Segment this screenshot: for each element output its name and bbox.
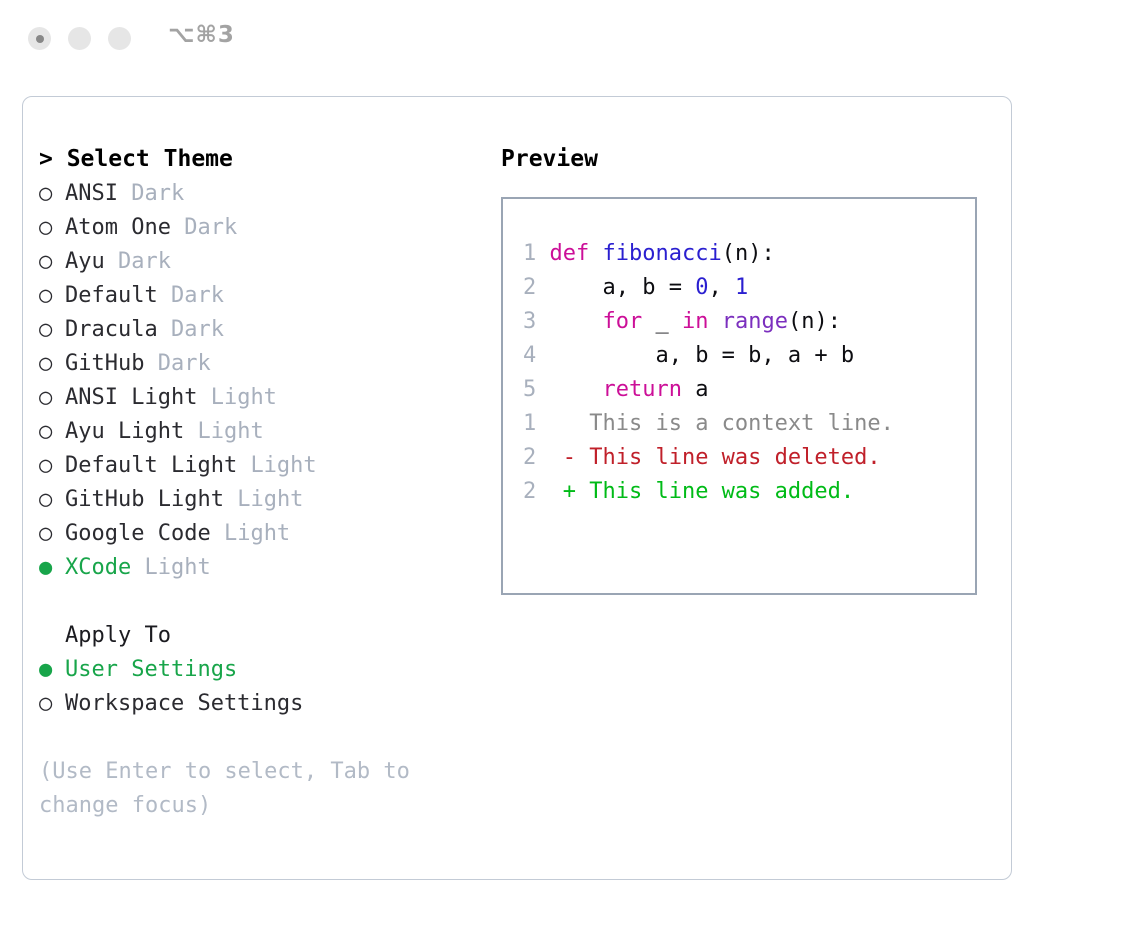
theme-list-item[interactable]: ○ANSI Light Light — [39, 381, 489, 415]
theme-list-item[interactable]: ○Default Dark — [39, 279, 489, 313]
radio-unselected-icon: ○ — [39, 415, 65, 449]
code-preview: 1 def fibonacci(n):2 a, b = 0, 13 for _ … — [523, 237, 963, 407]
apply-to-option[interactable]: ●User Settings — [39, 653, 489, 687]
spacer — [224, 487, 237, 512]
main-content-panel: > Select Theme ○ANSI Dark○Atom One Dark○… — [22, 96, 1012, 880]
spacer — [144, 351, 157, 376]
spacer — [536, 275, 549, 300]
apply-to-list: ●User Settings○Workspace Settings — [39, 653, 489, 721]
theme-name-label: XCode — [65, 555, 131, 580]
spacer — [536, 309, 549, 334]
theme-list-item[interactable]: ○GitHub Dark — [39, 347, 489, 381]
code-token: return — [602, 377, 681, 402]
code-line-number: 5 — [523, 377, 536, 402]
radio-unselected-icon: ○ — [39, 687, 65, 721]
code-token — [708, 309, 721, 334]
code-token: fibonacci — [603, 241, 722, 266]
code-token: _ — [642, 309, 682, 334]
code-token: a, b = — [550, 275, 696, 300]
code-line: 1 def fibonacci(n): — [523, 237, 963, 271]
theme-selector-column: > Select Theme ○ANSI Dark○Atom One Dark○… — [39, 141, 489, 823]
theme-variant-tag: Light — [197, 419, 263, 444]
radio-unselected-icon: ○ — [39, 483, 65, 517]
theme-name-label: Atom One — [65, 215, 171, 240]
diff-line-number: 1 — [523, 411, 536, 436]
spacer — [184, 419, 197, 444]
theme-variant-tag: Light — [211, 385, 277, 410]
theme-name-label: Default Light — [65, 453, 237, 478]
code-line: 2 a, b = 0, 1 — [523, 271, 963, 305]
diff-line: 2 - This line was deleted. — [523, 441, 963, 475]
theme-name-label: Default — [65, 283, 158, 308]
radio-unselected-icon: ○ — [39, 381, 65, 415]
diff-line: 1 This is a context line. — [523, 407, 963, 441]
window-titlebar: ⌥⌘3 — [0, 0, 1140, 78]
theme-variant-tag: Dark — [131, 181, 184, 206]
theme-list-item[interactable]: ○Ayu Dark — [39, 245, 489, 279]
theme-list-item[interactable]: ○Dracula Dark — [39, 313, 489, 347]
theme-variant-tag: Light — [250, 453, 316, 478]
theme-list-item[interactable]: ○Ayu Light Light — [39, 415, 489, 449]
spacer — [158, 283, 171, 308]
theme-variant-tag: Dark — [184, 215, 237, 240]
code-line-number: 2 — [523, 275, 536, 300]
theme-list-item[interactable]: ○ANSI Dark — [39, 177, 489, 211]
window-title: ⌥⌘3 — [168, 22, 235, 48]
diff-marker: - — [536, 445, 589, 470]
radio-unselected-icon: ○ — [39, 279, 65, 313]
radio-selected-icon: ● — [39, 551, 65, 585]
theme-name-label: ANSI — [65, 181, 118, 206]
preview-heading: Preview — [501, 141, 991, 177]
radio-unselected-icon: ○ — [39, 517, 65, 551]
spacer — [536, 377, 549, 402]
theme-name-label: Ayu Light — [65, 419, 184, 444]
radio-unselected-icon: ○ — [39, 347, 65, 381]
theme-list-item[interactable]: ○Default Light Light — [39, 449, 489, 483]
spacer — [105, 249, 118, 274]
spacer — [211, 521, 224, 546]
theme-variant-tag: Light — [144, 555, 210, 580]
diff-marker: + — [536, 479, 589, 504]
code-token — [550, 309, 603, 334]
diff-line-text: This is a context line. — [589, 411, 894, 436]
spacer — [171, 215, 184, 240]
radio-selected-icon: ● — [39, 653, 65, 687]
apply-to-option[interactable]: ○Workspace Settings — [39, 687, 489, 721]
theme-list-item[interactable]: ○Google Code Light — [39, 517, 489, 551]
spacer — [158, 317, 171, 342]
spacer — [536, 343, 549, 368]
apply-to-option-label: User Settings — [65, 657, 237, 682]
app-window: ⌥⌘3 > Select Theme ○ANSI Dark○Atom One D… — [0, 0, 1140, 934]
spacer — [536, 241, 549, 266]
radio-unselected-icon: ○ — [39, 313, 65, 347]
code-token: range — [722, 309, 788, 334]
diff-line-text: This line was added. — [589, 479, 854, 504]
code-token: a — [682, 377, 709, 402]
theme-name-label: Ayu — [65, 249, 105, 274]
radio-unselected-icon: ○ — [39, 245, 65, 279]
code-token — [589, 241, 602, 266]
radio-unselected-icon: ○ — [39, 449, 65, 483]
code-line-number: 3 — [523, 309, 536, 334]
radio-unselected-icon: ○ — [39, 211, 65, 245]
theme-variant-tag: Dark — [118, 249, 171, 274]
diff-line-text: This line was deleted. — [589, 445, 880, 470]
code-line-number: 4 — [523, 343, 536, 368]
theme-variant-tag: Light — [237, 487, 303, 512]
theme-variant-tag: Dark — [158, 351, 211, 376]
theme-variant-tag: Dark — [171, 283, 224, 308]
diff-marker — [536, 411, 589, 436]
code-line: 5 return a — [523, 373, 963, 407]
code-line: 4 a, b = b, a + b — [523, 339, 963, 373]
apply-to-heading: Apply To — [39, 619, 489, 653]
traffic-light-active-dot — [36, 35, 44, 43]
theme-list-item[interactable]: ○Atom One Dark — [39, 211, 489, 245]
theme-name-label: GitHub — [65, 351, 144, 376]
radio-unselected-icon: ○ — [39, 177, 65, 211]
code-token: def — [550, 241, 590, 266]
code-token: , — [708, 275, 735, 300]
theme-name-label: ANSI Light — [65, 385, 197, 410]
theme-variant-tag: Dark — [171, 317, 224, 342]
theme-list-item[interactable]: ●XCode Light — [39, 551, 489, 585]
spacer — [131, 555, 144, 580]
code-token: 1 — [735, 275, 748, 300]
spacer — [197, 385, 210, 410]
code-token: for — [602, 309, 642, 334]
apply-to-section: Apply To ●User Settings○Workspace Settin… — [39, 619, 489, 721]
theme-name-label: Google Code — [65, 521, 211, 546]
code-token: 0 — [695, 275, 708, 300]
diff-preview: 1 This is a context line.2 - This line w… — [523, 407, 963, 509]
code-token: (n): — [722, 241, 775, 266]
apply-to-option-label: Workspace Settings — [65, 691, 303, 716]
theme-variant-tag: Light — [224, 521, 290, 546]
code-token: (n): — [788, 309, 841, 334]
preview-box: 1 def fibonacci(n):2 a, b = 0, 13 for _ … — [501, 197, 977, 595]
code-token: a, b = b, a + b — [550, 343, 855, 368]
keyboard-help-text: (Use Enter to select, Tab to change focu… — [39, 755, 449, 823]
traffic-light-maximize[interactable] — [108, 27, 131, 50]
traffic-light-close[interactable] — [28, 27, 51, 50]
traffic-light-minimize[interactable] — [68, 27, 91, 50]
code-token — [550, 377, 603, 402]
diff-line-number: 2 — [523, 445, 536, 470]
theme-name-label: Dracula — [65, 317, 158, 342]
code-token: in — [682, 309, 709, 334]
theme-list-item[interactable]: ○GitHub Light Light — [39, 483, 489, 517]
theme-name-label: GitHub Light — [65, 487, 224, 512]
preview-column: Preview 1 def fibonacci(n):2 a, b = 0, 1… — [501, 141, 991, 595]
theme-list-heading: > Select Theme — [39, 141, 489, 177]
diff-line: 2 + This line was added. — [523, 475, 963, 509]
code-line: 3 for _ in range(n): — [523, 305, 963, 339]
code-line-number: 1 — [523, 241, 536, 266]
spacer — [118, 181, 131, 206]
theme-list: ○ANSI Dark○Atom One Dark○Ayu Dark○Defaul… — [39, 177, 489, 585]
spacer — [237, 453, 250, 478]
diff-line-number: 2 — [523, 479, 536, 504]
